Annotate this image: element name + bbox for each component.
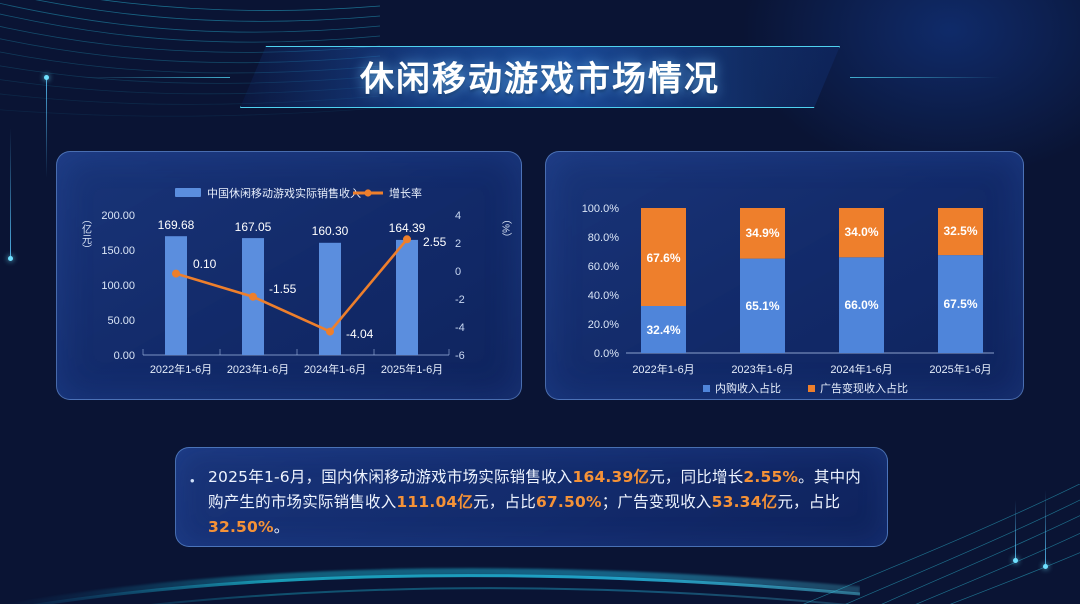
note-paragraph: 2025年1-6月，国内休闲移动游戏市场实际销售收入164.39亿元，同比增长2… bbox=[208, 465, 867, 540]
note-bullet: • bbox=[190, 473, 195, 488]
stack-label-inapp-2023: 65.1% bbox=[745, 299, 779, 313]
y-tick-0: 0.00 bbox=[114, 350, 135, 362]
note-text: 元，占比 bbox=[777, 493, 840, 511]
x-label-2024: 2024年1-6月 bbox=[830, 362, 892, 376]
y2-tick-2: 2 bbox=[455, 238, 461, 250]
title-rule-left bbox=[80, 77, 230, 78]
y-tick-100: 100.00 bbox=[101, 280, 135, 292]
stack-label-inapp-2025: 67.5% bbox=[943, 297, 977, 311]
bar-label-2025: 164.39 bbox=[389, 221, 426, 235]
legend-swatch-inapp bbox=[703, 385, 710, 392]
x-label-2025: 2025年1-6月 bbox=[381, 362, 443, 376]
note-highlight: 111.04亿 bbox=[396, 493, 473, 511]
note-text: 元，同比增长 bbox=[649, 468, 743, 486]
growth-label-2023: -1.55 bbox=[269, 282, 297, 296]
note-highlight: 164.39亿 bbox=[572, 468, 649, 486]
y2-tick-4: 4 bbox=[455, 210, 461, 222]
stack-label-ads-2023: 34.9% bbox=[745, 226, 779, 240]
legend-swatch-bar bbox=[175, 188, 201, 197]
stack-label-inapp-2022: 32.4% bbox=[646, 323, 680, 337]
note-highlight: 67.50% bbox=[536, 493, 602, 511]
page-title: 休闲移动游戏市场情况 bbox=[240, 52, 840, 101]
y-tick-100pct: 100.0% bbox=[582, 203, 620, 215]
x-label-2024: 2024年1-6月 bbox=[304, 362, 366, 376]
summary-note-box: • 2025年1-6月，国内休闲移动游戏市场实际销售收入164.39亿元，同比增… bbox=[175, 447, 888, 547]
bar-2022 bbox=[165, 236, 187, 355]
bar-label-2022: 169.68 bbox=[158, 218, 195, 232]
bar-label-2024: 160.30 bbox=[312, 224, 349, 238]
legend-swatch-ads bbox=[808, 385, 815, 392]
y-tick-150: 150.00 bbox=[101, 245, 135, 257]
chart-revenue-growth: 中国休闲移动游戏实际销售收入 增长率 （亿元） （%） 200.00 150.0… bbox=[57, 152, 523, 401]
growth-point-2024 bbox=[326, 328, 334, 336]
bar-2024 bbox=[319, 243, 341, 355]
left-axis-title: （亿元） bbox=[80, 214, 92, 254]
x-label-2023: 2023年1-6月 bbox=[731, 362, 793, 376]
stack-label-ads-2025: 32.5% bbox=[943, 224, 977, 238]
decorative-line-2 bbox=[10, 128, 11, 258]
y2-tick-n6: -6 bbox=[455, 350, 465, 362]
decorative-line-4 bbox=[1045, 490, 1046, 566]
y-tick-20pct: 20.0% bbox=[588, 319, 619, 331]
note-text: 2025年1-6月，国内休闲移动游戏市场实际销售收入 bbox=[208, 468, 572, 486]
legend-label-line: 增长率 bbox=[389, 186, 422, 200]
growth-label-2025: 2.55 bbox=[423, 235, 447, 249]
bar-label-2023: 167.05 bbox=[235, 220, 272, 234]
title-rule-right bbox=[850, 77, 1000, 78]
growth-point-2022 bbox=[172, 270, 180, 278]
note-text: 元，占比 bbox=[473, 493, 536, 511]
legend-label-ads: 广告变现收入占比 bbox=[820, 381, 908, 395]
slide-title-banner: 休闲移动游戏市场情况 bbox=[240, 46, 840, 108]
bar-2025 bbox=[396, 240, 418, 355]
y-tick-40pct: 40.0% bbox=[588, 290, 619, 302]
note-text: ；广告变现收入 bbox=[602, 493, 712, 511]
note-highlight: 32.50% bbox=[208, 518, 274, 536]
y-tick-60pct: 60.0% bbox=[588, 261, 619, 273]
decorative-line-3 bbox=[1015, 500, 1016, 560]
y-tick-200: 200.00 bbox=[101, 210, 135, 222]
note-highlight: 2.55% bbox=[743, 468, 798, 486]
y2-tick-n2: -2 bbox=[455, 294, 465, 306]
x-label-2022: 2022年1-6月 bbox=[632, 362, 694, 376]
growth-point-2025 bbox=[403, 235, 411, 243]
chart-revenue-mix: 100.0% 80.0% 60.0% 40.0% 20.0% 0.0% 32.4… bbox=[546, 152, 1025, 401]
y2-tick-n4: -4 bbox=[455, 322, 465, 334]
legend-label-inapp: 内购收入占比 bbox=[715, 381, 781, 395]
growth-point-2023 bbox=[249, 293, 257, 301]
decorative-line-1 bbox=[46, 78, 47, 178]
chart-panel-revenue-mix: 100.0% 80.0% 60.0% 40.0% 20.0% 0.0% 32.4… bbox=[545, 151, 1024, 400]
slide-root: 休闲移动游戏市场情况 中国休闲移动游戏实际销售收入 增长率 （亿元） （%） 2… bbox=[0, 0, 1080, 604]
y-tick-0pct: 0.0% bbox=[594, 348, 619, 360]
stack-label-ads-2022: 67.6% bbox=[646, 251, 680, 265]
stack-label-ads-2024: 34.0% bbox=[844, 225, 878, 239]
y-tick-50: 50.00 bbox=[107, 315, 135, 327]
y2-tick-0: 0 bbox=[455, 266, 461, 278]
x-label-2023: 2023年1-6月 bbox=[227, 362, 289, 376]
x-label-2022: 2022年1-6月 bbox=[150, 362, 212, 376]
growth-label-2022: 0.10 bbox=[193, 257, 217, 271]
chart-panel-revenue-growth: 中国休闲移动游戏实际销售收入 增长率 （亿元） （%） 200.00 150.0… bbox=[56, 151, 522, 400]
growth-label-2024: -4.04 bbox=[346, 327, 374, 341]
note-text: 。 bbox=[274, 518, 290, 536]
note-highlight: 53.34亿 bbox=[712, 493, 778, 511]
stack-label-inapp-2024: 66.0% bbox=[844, 298, 878, 312]
legend-label-bar: 中国休闲移动游戏实际销售收入 bbox=[207, 186, 361, 200]
x-label-2025: 2025年1-6月 bbox=[929, 362, 991, 376]
right-axis-title: （%） bbox=[500, 214, 512, 243]
y-tick-80pct: 80.0% bbox=[588, 232, 619, 244]
